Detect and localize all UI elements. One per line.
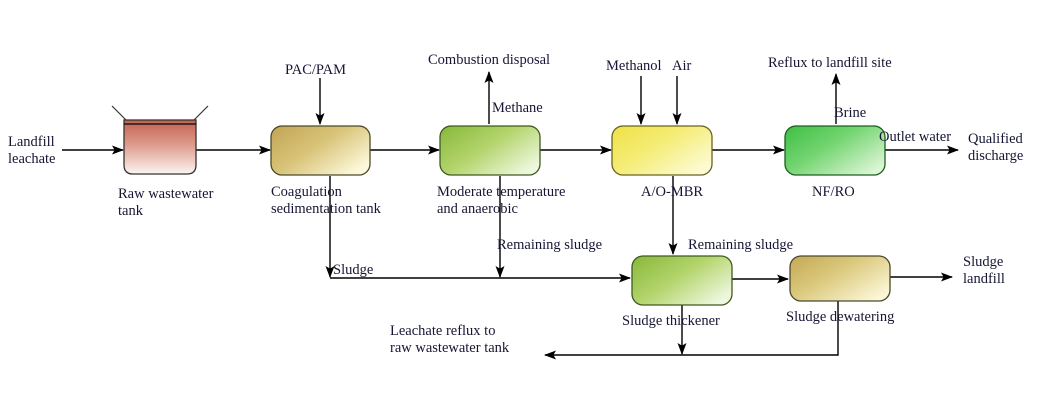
raw-wastewater-tank-body bbox=[124, 120, 196, 174]
sludge-label: Sludge bbox=[333, 262, 373, 279]
reflux-to-landfill-site-label: Reflux to landfill site bbox=[768, 55, 892, 72]
nf-ro-shape[interactable] bbox=[785, 126, 885, 175]
combustion-disposal-label: Combustion disposal bbox=[428, 52, 550, 69]
air-label: Air bbox=[672, 58, 691, 75]
sludge-thickener-label: Sludge thickener bbox=[622, 313, 720, 330]
methanol-label: Methanol bbox=[606, 58, 662, 75]
leachate-reflux-label: Leachate reflux to raw wastewater tank bbox=[390, 323, 509, 357]
raw-wastewater-tank-lip bbox=[112, 106, 208, 120]
brine-label: Brine bbox=[834, 105, 866, 122]
moderate-temperature-anaerobic-label: Moderate temperature and anaerobic bbox=[437, 184, 565, 218]
coagulation-sedimentation-tank-shape[interactable] bbox=[271, 126, 370, 175]
process-flow-diagram: Raw wastewater tank Coagulation sediment… bbox=[0, 0, 1048, 417]
landfill-leachate-label: Landfill leachate bbox=[8, 134, 56, 168]
qualified-discharge-label: Qualified discharge bbox=[968, 131, 1023, 165]
methane-label: Methane bbox=[492, 100, 543, 117]
pac-pam-label: PAC/PAM bbox=[285, 62, 346, 79]
remaining-sludge-left-label: Remaining sludge bbox=[497, 237, 602, 254]
sludge-thickener-shape[interactable] bbox=[632, 256, 732, 305]
nf-ro-label: NF/RO bbox=[812, 184, 855, 201]
ao-mbr-shape[interactable] bbox=[612, 126, 712, 175]
raw-wastewater-tank-label: Raw wastewater tank bbox=[118, 186, 213, 220]
coagulation-sedimentation-tank-label: Coagulation sedimentation tank bbox=[271, 184, 381, 218]
ao-mbr-label: A/O-MBR bbox=[641, 184, 703, 201]
moderate-temperature-anaerobic-shape[interactable] bbox=[440, 126, 540, 175]
sludge-landfill-label: Sludge landfill bbox=[963, 254, 1005, 288]
remaining-sludge-right-label: Remaining sludge bbox=[688, 237, 793, 254]
sludge-dewatering-shape[interactable] bbox=[790, 256, 890, 301]
outlet-water-label: Outlet water bbox=[879, 129, 951, 146]
sludge-dewatering-label: Sludge dewatering bbox=[786, 309, 894, 326]
